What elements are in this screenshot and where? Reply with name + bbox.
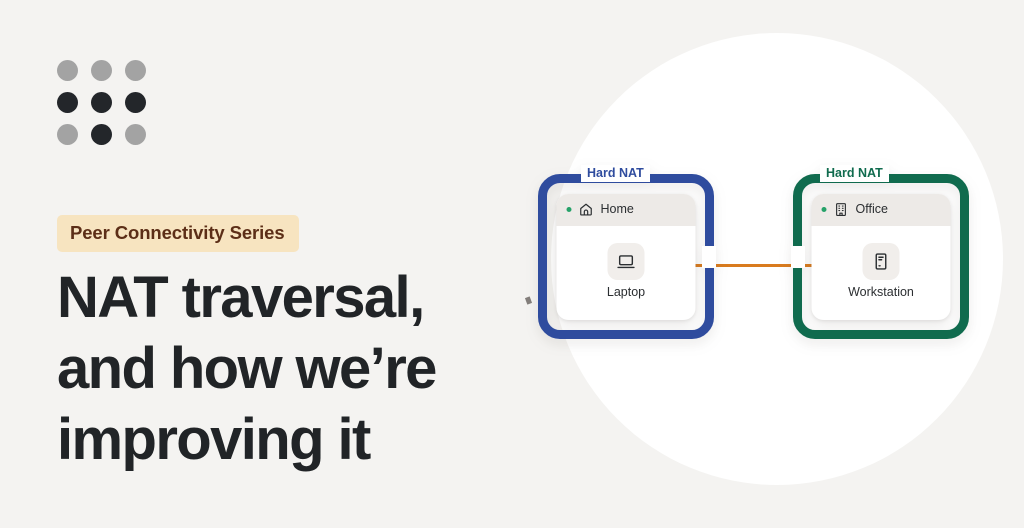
- device-name: Workstation: [848, 286, 914, 299]
- site-card-body: Laptop: [557, 226, 696, 320]
- site-card-home: Home Laptop: [557, 194, 696, 320]
- cable-notch: [791, 246, 805, 268]
- laptop-icon: [608, 243, 645, 280]
- home-icon: [579, 202, 594, 217]
- site-card-body: Workstation: [812, 226, 951, 320]
- nat-type-label: Hard NAT: [581, 165, 650, 182]
- nat-type-label: Hard NAT: [820, 165, 889, 182]
- site-name: Home: [601, 203, 634, 216]
- nat-box-home: Hard NAT Home: [538, 174, 714, 339]
- nat-box-office: Hard NAT Office: [793, 174, 969, 339]
- status-dot-online: [822, 207, 827, 212]
- nat-traversal-diagram: Hard NAT Home: [0, 0, 1024, 528]
- site-card-office: Office Workstation: [812, 194, 951, 320]
- workstation-icon: [863, 243, 900, 280]
- site-name: Office: [856, 203, 888, 216]
- site-card-header: Home: [557, 194, 696, 226]
- cable-notch: [702, 246, 716, 268]
- status-dot-online: [567, 207, 572, 212]
- office-building-icon: [834, 202, 849, 217]
- site-card-header: Office: [812, 194, 951, 226]
- device-name: Laptop: [607, 286, 645, 299]
- hero-banner: Peer Connectivity Series NAT traversal, …: [0, 0, 1024, 528]
